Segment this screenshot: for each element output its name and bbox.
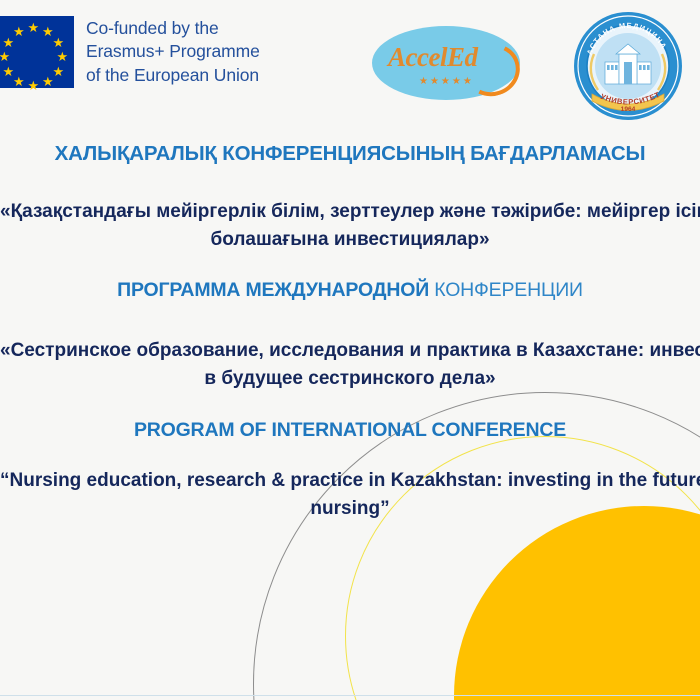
russian-subtitle: «Сестринское образование, исследования и… [0, 337, 700, 393]
english-subtitle: “Nursing education, research & practice … [0, 467, 700, 523]
acceled-wordmark: AccelEd [388, 42, 477, 73]
eu-flag-icon: ★ ★ ★ ★ ★ ★ ★ ★ ★ ★ ★ ★ [0, 16, 74, 88]
kazakh-subtitle-line-2: болашағына инвестициялар» [0, 226, 700, 254]
acceled-stars-icon: ★★★★★ [419, 76, 474, 87]
russian-heading-light: КОНФЕРЕНЦИИ [434, 279, 583, 301]
eu-cofunding-text: Co-funded by the Erasmus+ Programme of t… [86, 16, 260, 87]
eu-text-line-2: Erasmus+ Programme [86, 40, 260, 63]
english-subtitle-line-2: nursing” [0, 495, 700, 523]
kazakh-subtitle: «Қазақстандағы мейіргерлік білім, зертте… [0, 198, 700, 254]
astana-medical-university-seal: АСТАНА МЕДИЦИНА УНИВЕРСИТЕТІ 1964 [572, 10, 684, 122]
eu-cofunding-logo: ★ ★ ★ ★ ★ ★ ★ ★ ★ ★ ★ ★ Co-funded by the… [0, 16, 260, 88]
russian-subtitle-line-2: в будущее сестринского дела» [0, 365, 700, 393]
conference-program-poster: ★ ★ ★ ★ ★ ★ ★ ★ ★ ★ ★ ★ Co-funded by the… [0, 0, 700, 700]
kazakh-subtitle-line-1: «Қазақстандағы мейіргерлік білім, зертте… [0, 198, 700, 226]
logo-header: ★ ★ ★ ★ ★ ★ ★ ★ ★ ★ ★ ★ Co-funded by the… [0, 0, 700, 128]
svg-text:1964: 1964 [621, 106, 636, 113]
bottom-divider-line [0, 695, 700, 697]
eu-text-line-1: Co-funded by the [86, 17, 260, 40]
inner-gold-filled-circle [454, 506, 700, 700]
russian-heading: ПРОГРАММА МЕЖДУНАРОДНОЙ КОНФЕРЕНЦИИ [0, 279, 700, 302]
russian-heading-bold: ПРОГРАММА МЕЖДУНАРОДНОЙ [117, 279, 429, 301]
english-heading: PROGRAM OF INTERNATIONAL CONFERENCE [0, 419, 700, 442]
acceled-oval-logo: AccelEd ★★★★★ [372, 26, 520, 100]
english-subtitle-line-1: “Nursing education, research & practice … [0, 467, 700, 495]
russian-subtitle-line-1: «Сестринское образование, исследования и… [0, 337, 700, 365]
kazakh-heading: ХАЛЫҚАРАЛЫҚ КОНФЕРЕНЦИЯСЫНЫҢ БАҒДАРЛАМАС… [0, 142, 700, 166]
eu-text-line-3: of the European Union [86, 64, 260, 87]
